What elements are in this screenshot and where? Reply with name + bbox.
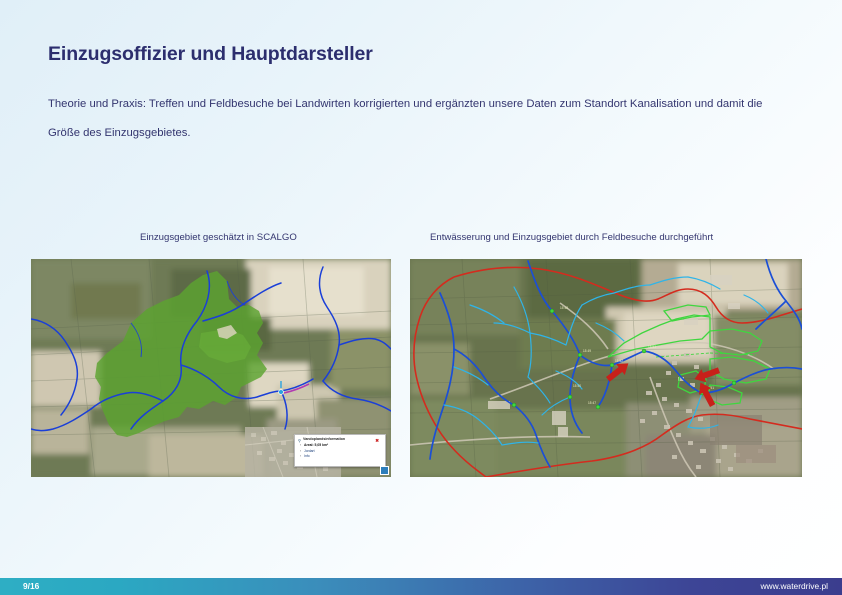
footer-bar: 9/16 www.waterdrive.pl (0, 578, 842, 595)
map-image-field-survey-drainage[interactable]: 15 49 15 48 15 52 15 50 15 47 15 53 15 5… (410, 259, 802, 477)
map-right-graphic: 15 49 15 48 15 52 15 50 15 47 15 53 15 5… (410, 259, 802, 477)
popup-item-info[interactable]: Info (304, 454, 382, 459)
footer-page-number: 9/16 (23, 581, 39, 591)
figure-caption-left: Einzugsgebiet geschätzt in SCALGO (140, 232, 297, 243)
popup-title: Vandoplandsinformation (303, 437, 345, 441)
popup-title-row: ⚲ Vandoplandsinformation ✖ (298, 437, 382, 442)
body-paragraph: Theorie und Praxis: Treffen und Feldbesu… (48, 90, 778, 148)
figure-caption-right: Entwässerung und Einzugsgebiet durch Fel… (430, 232, 713, 243)
page-title: Einzugsoffizier und Hauptdarsteller (48, 43, 373, 66)
svg-text:15 49: 15 49 (583, 349, 591, 353)
popup-item-list: Areal: 5,05 km² Jordart Info (298, 443, 382, 459)
footer-website-url[interactable]: www.waterdrive.pl (761, 581, 829, 591)
svg-text:15 52: 15 52 (615, 359, 623, 363)
map-pin-icon: ⚲ (298, 438, 301, 443)
map-info-popup[interactable]: ⚲ Vandoplandsinformation ✖ Areal: 5,05 k… (294, 434, 386, 467)
svg-text:15 48: 15 48 (560, 306, 568, 310)
map-image-scalgo-catchment[interactable]: ⚲ Vandoplandsinformation ✖ Areal: 5,05 k… (31, 259, 391, 477)
slide: Einzugsoffizier und Hauptdarsteller Theo… (0, 0, 842, 595)
map-layers-icon[interactable] (380, 466, 389, 475)
svg-text:15 50: 15 50 (573, 384, 581, 388)
svg-text:15 53: 15 53 (648, 345, 656, 349)
svg-text:15 47: 15 47 (588, 401, 596, 405)
